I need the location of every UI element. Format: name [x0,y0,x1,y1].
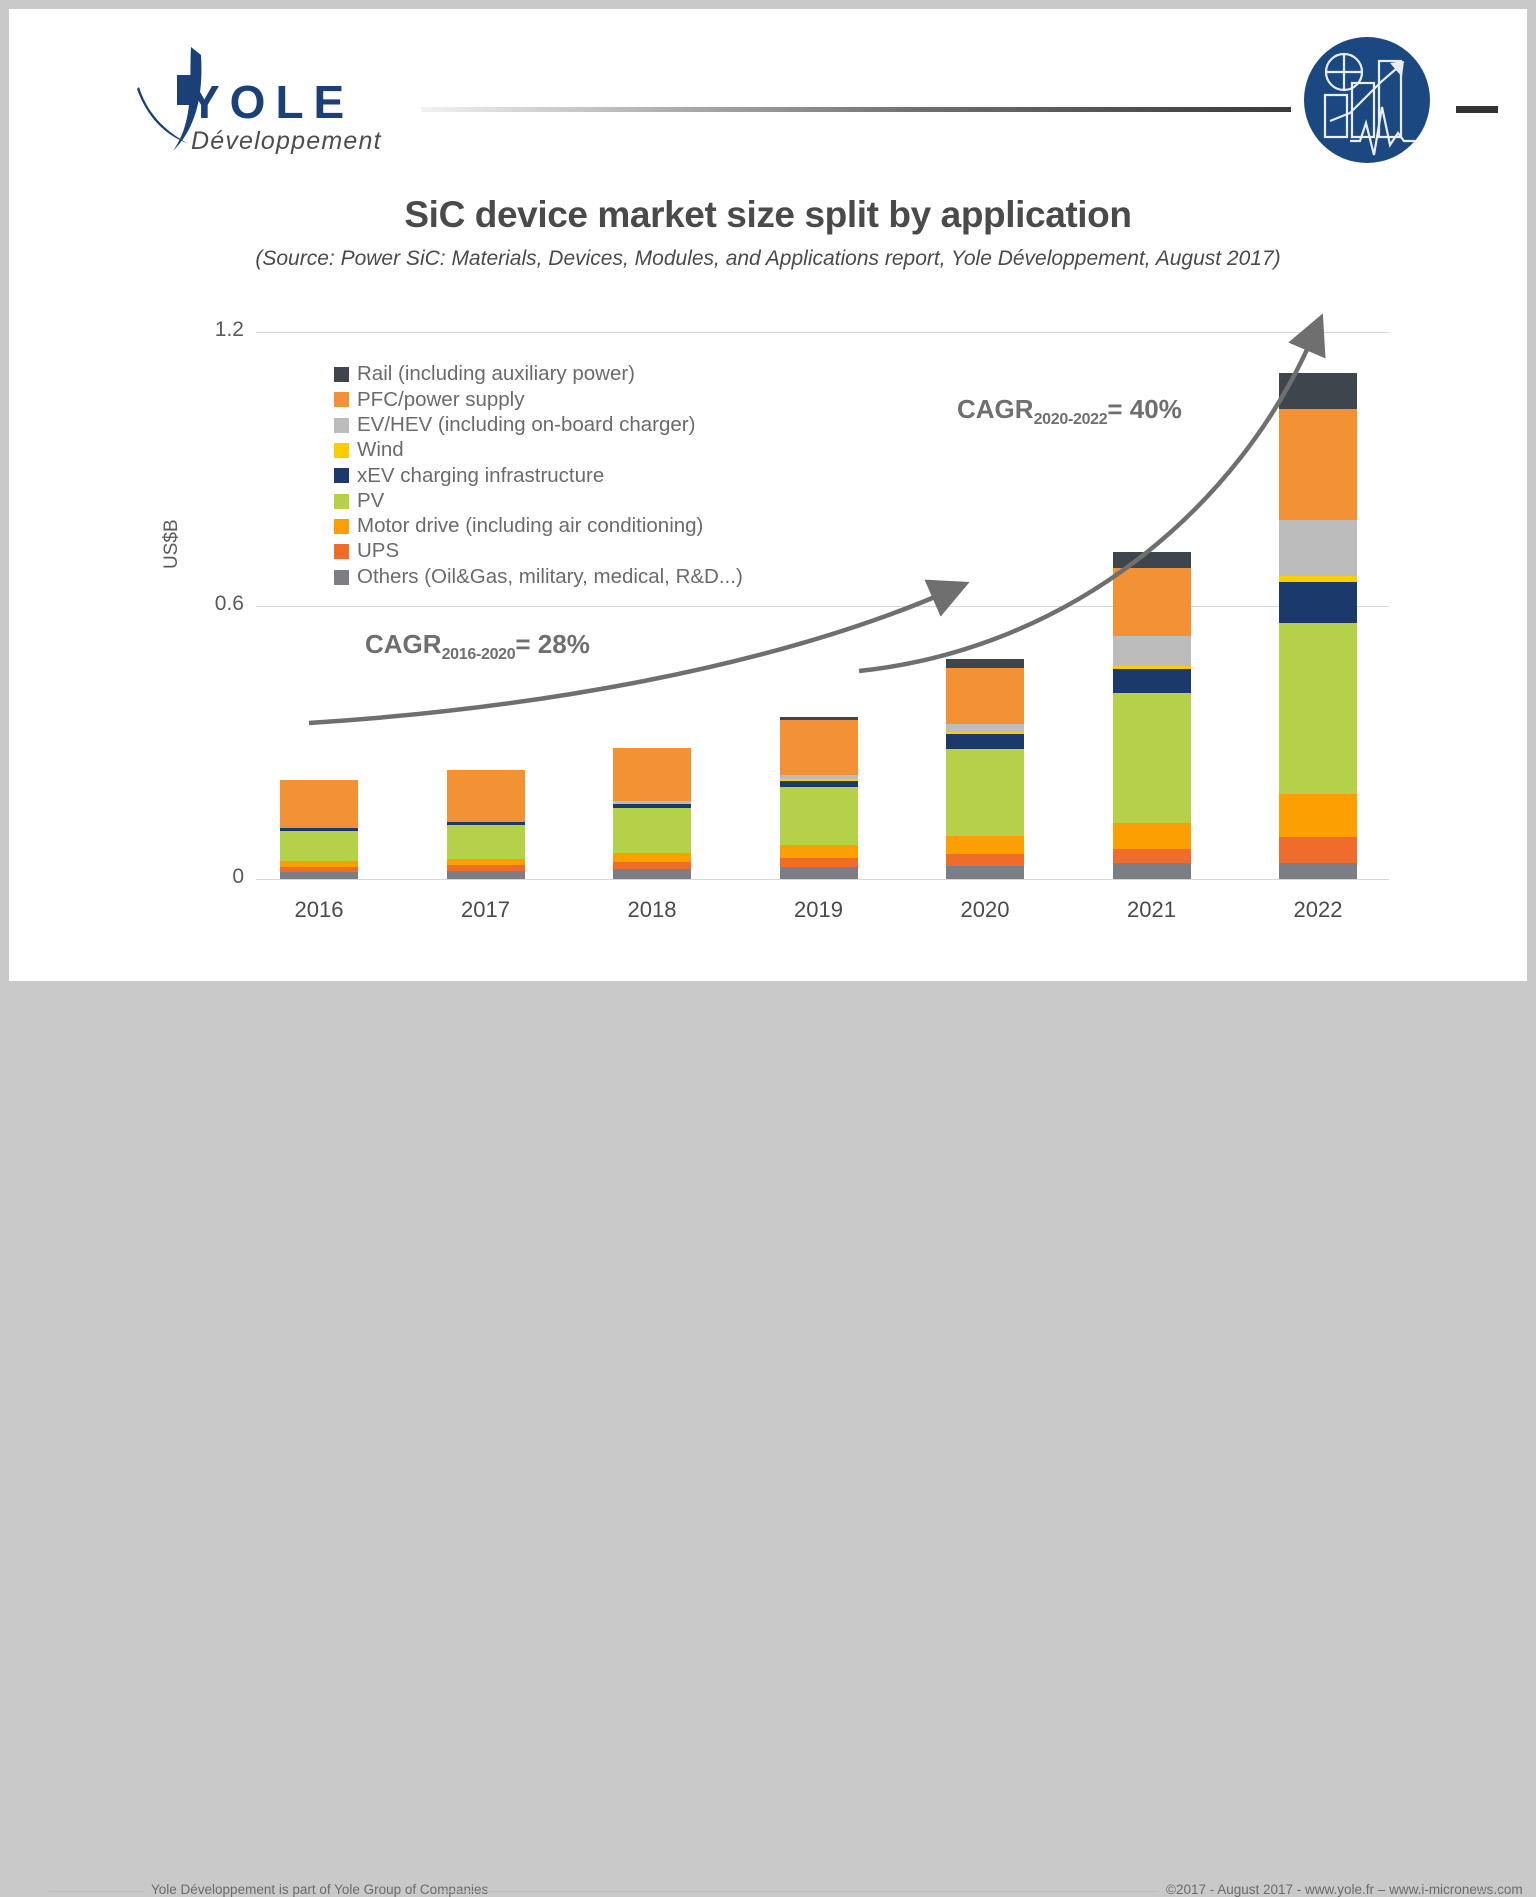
bar-segment[interactable] [780,858,858,867]
bar-segment[interactable] [946,659,1024,668]
legend-item[interactable]: Rail (including auxiliary power) [334,362,743,387]
bar-segment[interactable] [1279,863,1357,879]
bar-segment[interactable] [613,869,691,879]
footer-text-left: Yole Développement is part of Yole Group… [151,1882,488,1897]
bar-segment[interactable] [280,780,358,828]
bar-2019[interactable] [780,9,858,879]
y-axis-tick: 0 [184,865,244,889]
bar-2022[interactable] [1279,9,1357,879]
cagr-period: 2016-2020 [442,646,516,663]
chart-area: US$B 00.61.2 201620172018201920202021202… [9,9,1527,990]
bar-segment[interactable] [1279,623,1357,794]
bar-segment[interactable] [613,853,691,862]
legend-item[interactable]: EV/HEV (including on-board charger) [334,413,743,438]
bar-segment[interactable] [1279,837,1357,863]
legend-swatch-icon [334,494,349,509]
legend-label: EV/HEV (including on-board charger) [357,415,695,436]
cagr-annotation-1: CAGR2016-2020= 28% [365,629,590,664]
bar-2021[interactable] [1113,9,1191,879]
bar-segment[interactable] [280,861,358,867]
bar-segment[interactable] [946,734,1024,749]
footer-rule-mid [441,1891,1156,1892]
bar-2020[interactable] [946,9,1024,879]
footer-rule-right [1475,1891,1501,1892]
legend-swatch-icon [334,418,349,433]
bar-segment[interactable] [780,717,858,720]
legend-label: xEV charging infrastructure [357,466,604,487]
cagr-period: 2020-2022 [1034,411,1108,428]
bar-segment[interactable] [447,859,525,865]
bar-segment[interactable] [280,828,358,831]
bar-segment[interactable] [447,822,525,825]
bar-segment[interactable] [613,748,691,801]
slide-canvas: YOLE Développement SiC device [9,9,1527,981]
legend-swatch-icon [334,544,349,559]
bar-segment[interactable] [780,779,858,781]
cagr-annotation-2: CAGR2020-2022= 40% [957,394,1182,429]
bar-segment[interactable] [280,867,358,872]
bar-segment[interactable] [1113,823,1191,849]
legend-swatch-icon [334,367,349,382]
bar-segment[interactable] [1279,520,1357,576]
bar-segment[interactable] [613,804,691,808]
bar-segment[interactable] [1113,636,1191,666]
footer-rule-left [49,1891,144,1892]
bar-segment[interactable] [1279,409,1357,520]
x-axis-tick: 2018 [592,897,712,923]
bar-segment[interactable] [780,845,858,858]
legend-item[interactable]: UPS [334,539,743,564]
legend-item[interactable]: PFC/power supply [334,387,743,412]
bar-segment[interactable] [946,732,1024,734]
legend-item[interactable]: Wind [334,438,743,463]
legend-item[interactable]: Motor drive (including air conditioning) [334,514,743,539]
bar-segment[interactable] [613,808,691,853]
bar-segment[interactable] [1113,669,1191,693]
x-axis-tick: 2016 [259,897,379,923]
bar-segment[interactable] [447,871,525,879]
bar-segment[interactable] [280,831,358,861]
legend-label: PV [357,491,384,512]
slide-page: YOLE Développement SiC device [0,0,1536,990]
bar-segment[interactable] [1279,373,1357,408]
bar-segment[interactable] [1113,568,1191,636]
bar-segment[interactable] [1113,849,1191,863]
y-axis-tick: 1.2 [184,318,244,342]
bar-segment[interactable] [447,865,525,871]
x-axis-tick: 2022 [1258,897,1378,923]
chart-legend: Rail (including auxiliary power)PFC/powe… [334,362,743,590]
gridline [256,879,1389,880]
bar-segment[interactable] [780,775,858,779]
bar-segment[interactable] [1279,582,1357,623]
y-axis-tick: 0.6 [184,592,244,616]
legend-item[interactable]: xEV charging infrastructure [334,463,743,488]
bar-segment[interactable] [780,867,858,879]
legend-label: Wind [357,440,404,461]
x-axis-tick: 2019 [759,897,879,923]
slide-footer: Yole Développement is part of Yole Group… [9,939,1527,984]
bar-segment[interactable] [780,781,858,787]
legend-label: Rail (including auxiliary power) [357,364,635,385]
bar-segment[interactable] [946,724,1024,731]
bar-segment[interactable] [946,854,1024,866]
bar-segment[interactable] [1113,666,1191,669]
bar-segment[interactable] [280,872,358,879]
legend-swatch-icon [334,570,349,585]
x-axis-tick: 2017 [426,897,546,923]
bar-segment[interactable] [1113,552,1191,568]
bar-segment[interactable] [946,836,1024,854]
footer-text-right: ©2017 - August 2017 - www.yole.fr – www.… [1166,1882,1523,1897]
bar-segment[interactable] [1279,794,1357,837]
y-axis-label: US$B [161,519,183,569]
bar-segment[interactable] [447,770,525,822]
legend-label: UPS [357,541,399,562]
legend-swatch-icon [334,468,349,483]
bar-segment[interactable] [613,862,691,869]
legend-swatch-icon [334,392,349,407]
bar-segment[interactable] [1113,863,1191,879]
x-axis-tick: 2021 [1092,897,1212,923]
bar-segment[interactable] [780,787,858,845]
legend-label: Motor drive (including air conditioning) [357,516,703,537]
bar-segment[interactable] [946,749,1024,836]
bar-segment[interactable] [780,720,858,775]
legend-item[interactable]: Others (Oil&Gas, military, medical, R&D.… [334,564,743,589]
bar-segment[interactable] [447,825,525,859]
bar-segment[interactable] [1279,576,1357,582]
legend-label: Others (Oil&Gas, military, medical, R&D.… [357,567,743,588]
cagr-arrow-2 [859,334,1314,671]
legend-label: PFC/power supply [357,390,524,411]
bar-segment[interactable] [946,866,1024,879]
x-axis-tick: 2020 [925,897,1045,923]
bar-segment[interactable] [613,801,691,804]
bar-segment[interactable] [946,668,1024,724]
legend-swatch-icon [334,443,349,458]
legend-swatch-icon [334,519,349,534]
legend-item[interactable]: PV [334,488,743,513]
bar-segment[interactable] [1113,693,1191,822]
